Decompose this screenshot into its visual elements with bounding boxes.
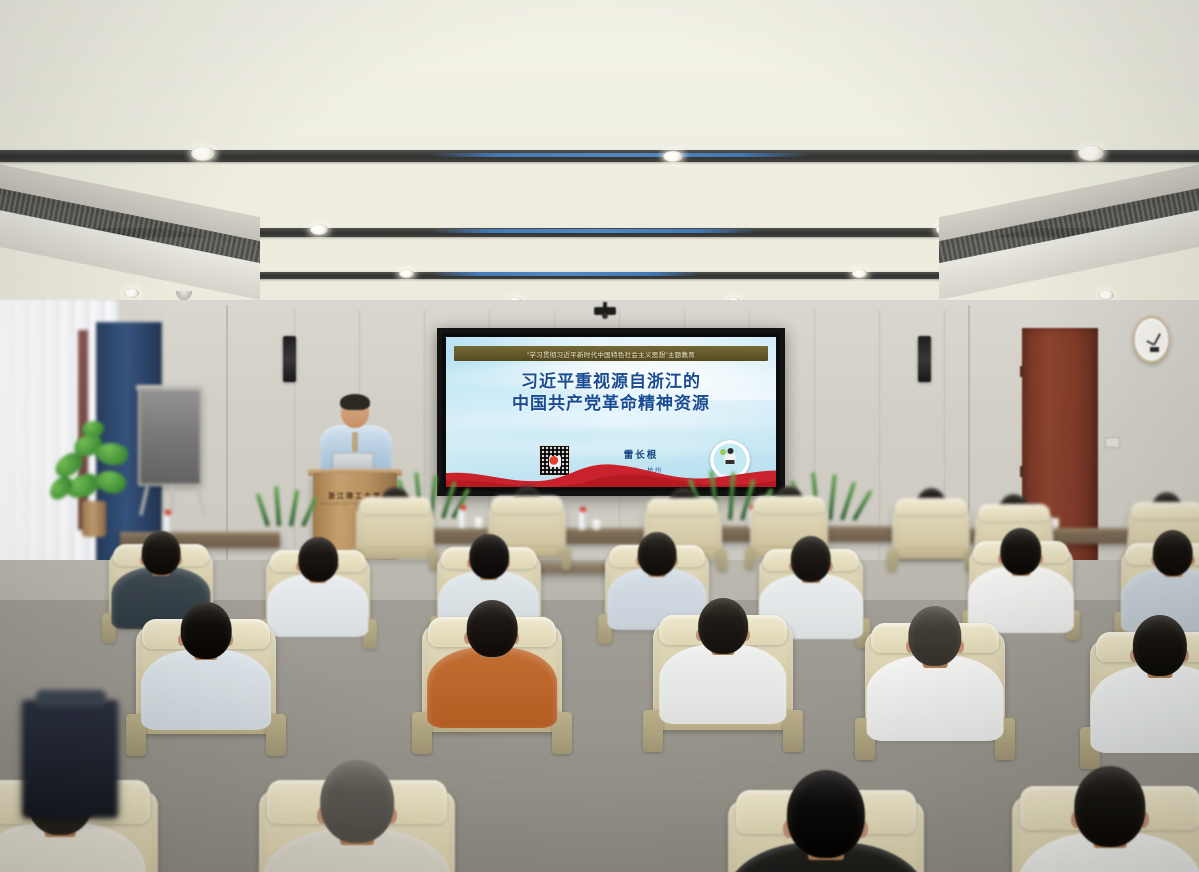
plant-blade xyxy=(274,486,281,526)
wall-plant xyxy=(262,484,318,526)
audience-head xyxy=(1000,528,1041,575)
plant-leaf xyxy=(81,420,104,437)
ceiling-soffit-right xyxy=(939,0,1199,330)
clock-date-window xyxy=(1150,347,1159,352)
door-hinge xyxy=(1020,466,1023,477)
water-bottle xyxy=(578,510,586,530)
audience-head xyxy=(181,602,232,659)
conference-hall-photo: “学习贯彻习近平新时代中国特色社会主义思想”主题教育 习近平重视源自浙江的 中国… xyxy=(0,0,1199,872)
slide-title-line1: 习近平重视源自浙江的 xyxy=(521,372,701,391)
chair-armrest xyxy=(717,549,728,571)
wall-switch[interactable] xyxy=(1105,437,1120,448)
plant-blade xyxy=(301,497,317,527)
chair-headrest xyxy=(978,504,1050,520)
ceiling-downlight xyxy=(852,269,867,278)
wall-camera-icon xyxy=(594,302,616,319)
audience-shoulders xyxy=(1090,665,1199,752)
chair xyxy=(892,502,970,576)
slide-banner-text: “学习贯彻习近平新时代中国特色社会主义思想”主题教育 xyxy=(527,349,695,359)
plant-blade xyxy=(852,490,872,521)
briefcase xyxy=(22,700,118,818)
chair-headrest xyxy=(647,498,719,514)
audience-head xyxy=(787,770,865,858)
audience-head xyxy=(467,600,518,657)
audience-head xyxy=(298,537,338,582)
water-bottle xyxy=(458,508,466,528)
audience-member xyxy=(263,760,452,872)
board-leg xyxy=(171,486,174,512)
audience-head xyxy=(698,598,748,654)
slide-surface: “学习贯彻习近平新时代中国特色社会主义思想”主题教育 习近平重视源自浙江的 中国… xyxy=(446,337,776,487)
audience-head xyxy=(142,531,181,575)
door-hinge xyxy=(1020,366,1023,377)
audience-head xyxy=(791,536,831,582)
plant-leaf xyxy=(93,466,129,498)
audience-member xyxy=(726,770,927,872)
audience-head xyxy=(908,606,961,666)
audience-head xyxy=(320,760,394,843)
audience-head xyxy=(1074,766,1145,847)
slide-theme-banner: “学习贯彻习近平新时代中国特色社会主义思想”主题教育 xyxy=(454,346,768,361)
ceiling-downlight xyxy=(310,224,328,235)
audience-shoulders xyxy=(427,647,557,728)
wall-clock xyxy=(1133,316,1170,363)
audience-head xyxy=(638,532,677,576)
ceiling-soffit-left xyxy=(0,0,260,330)
presenter-hair xyxy=(340,394,370,410)
flipchart-board xyxy=(138,388,202,486)
chair-headrest xyxy=(895,498,967,514)
briefcase-handle xyxy=(36,690,106,706)
audience-head xyxy=(469,534,509,579)
chair-headrest xyxy=(753,496,825,512)
audience-member xyxy=(659,598,786,734)
audience-member xyxy=(1090,615,1199,764)
chair-armrest xyxy=(887,549,898,571)
plant-blade xyxy=(728,472,735,520)
audience-head xyxy=(1133,615,1187,676)
audience-member xyxy=(141,602,271,741)
chair-seam xyxy=(362,547,428,548)
ceiling-rail-accent-2 xyxy=(430,229,760,233)
camera-lens xyxy=(602,313,608,319)
chair-headrest xyxy=(1131,502,1199,518)
ceiling xyxy=(0,0,1199,330)
audience-member xyxy=(867,606,1004,752)
ceiling-rail-accent-1 xyxy=(430,153,810,157)
ceiling-downlight xyxy=(663,151,683,162)
plant-blade xyxy=(828,474,837,520)
slide-title-line2: 中国共产党革命精神资源 xyxy=(446,393,776,415)
chair-headrest xyxy=(359,497,431,513)
audience-member xyxy=(427,600,557,739)
wall-speaker-left xyxy=(283,336,296,382)
audience-shoulders xyxy=(141,649,271,730)
clock-face xyxy=(1137,321,1166,358)
presenter-lanyard xyxy=(352,432,358,452)
audience-shoulders xyxy=(867,655,1004,741)
water-bottle xyxy=(163,513,171,533)
audience-member xyxy=(267,537,368,645)
audience-shoulders xyxy=(267,574,368,638)
ceiling-downlight xyxy=(399,269,414,278)
paper-cup xyxy=(592,519,601,530)
clock-hour-hand xyxy=(1146,341,1154,346)
chair-armrest xyxy=(745,547,756,569)
potted-plant-left xyxy=(48,415,144,535)
audience-shoulders xyxy=(659,644,786,724)
chair-armrest xyxy=(561,547,572,569)
slide-title: 习近平重视源自浙江的 中国共产党革命精神资源 xyxy=(446,371,776,415)
chair-headrest xyxy=(491,496,563,512)
paper-cup xyxy=(474,517,483,528)
chair-seam xyxy=(898,548,964,549)
plant-blade xyxy=(289,489,299,526)
badge-top-text: 浙江理工大学 xyxy=(710,442,750,446)
ceiling-rail-accent-3 xyxy=(430,272,700,276)
audience-member xyxy=(1019,766,1199,872)
plant-pot xyxy=(82,501,106,537)
audience-head xyxy=(1153,530,1193,576)
wall-speaker-right xyxy=(918,336,931,382)
